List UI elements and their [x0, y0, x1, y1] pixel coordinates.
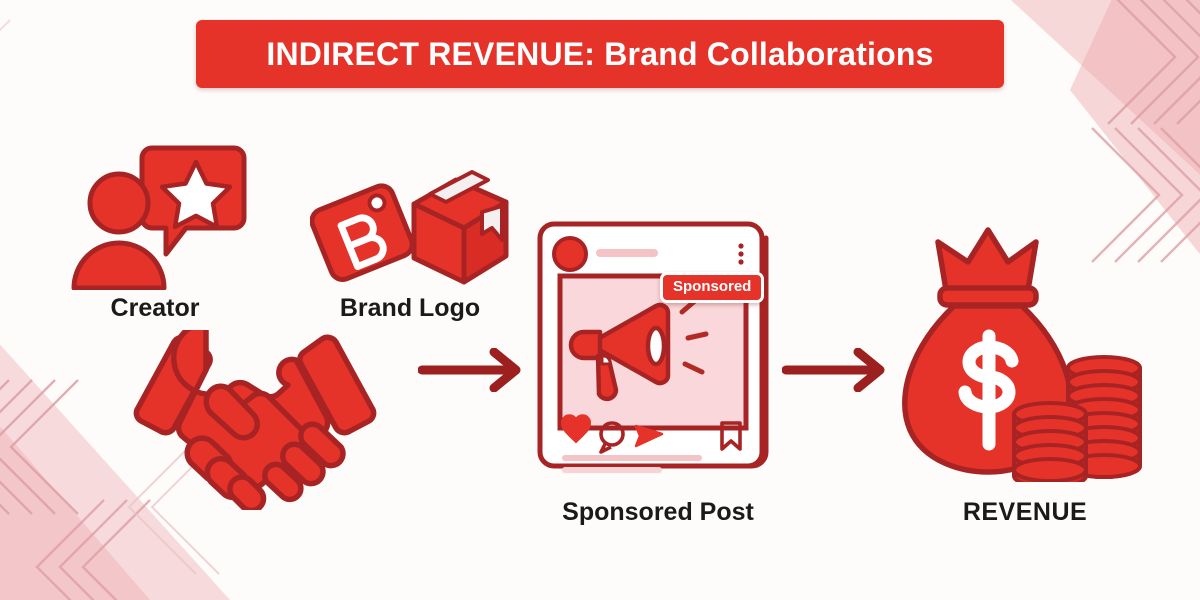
title-rest: Brand Collaborations — [595, 36, 933, 72]
sponsored-post-card[interactable]: Sponsored — [536, 220, 776, 476]
revenue-label: REVENUE — [890, 500, 1160, 525]
username-bar — [596, 249, 658, 257]
box-icon — [414, 172, 506, 282]
arrow-right-icon-1 — [418, 348, 528, 392]
handshake-icon — [110, 330, 400, 510]
brand-logo-label: Brand Logo — [300, 296, 520, 321]
title-banner: INDIRECT REVENUE: Brand Collaborations — [196, 20, 1004, 88]
sponsored-post-label: Sponsored Post — [528, 500, 788, 525]
infographic-canvas: INDIRECT REVENUE: Brand Collaborations C… — [0, 0, 1200, 600]
brand-logo-icon — [310, 158, 510, 288]
sponsored-badge: Sponsored — [660, 272, 764, 303]
page-title: INDIRECT REVENUE: Brand Collaborations — [266, 38, 933, 70]
creator-icon — [60, 140, 250, 290]
creator-label: Creator — [45, 296, 265, 321]
caption-line-1 — [562, 455, 702, 461]
revenue-money-icon — [890, 218, 1160, 482]
deco-top-left — [0, 20, 10, 70]
sponsored-badge-label: Sponsored — [673, 278, 751, 295]
avatar — [554, 238, 586, 270]
arrow-right-icon-2 — [782, 348, 892, 392]
coin-stack-short — [1014, 403, 1086, 482]
speech-bubble-icon — [142, 148, 244, 254]
title-strong: INDIRECT REVENUE: — [266, 36, 595, 72]
caption-line-2 — [562, 467, 662, 473]
more-options-icon — [738, 243, 743, 264]
price-tag-icon — [310, 182, 416, 283]
